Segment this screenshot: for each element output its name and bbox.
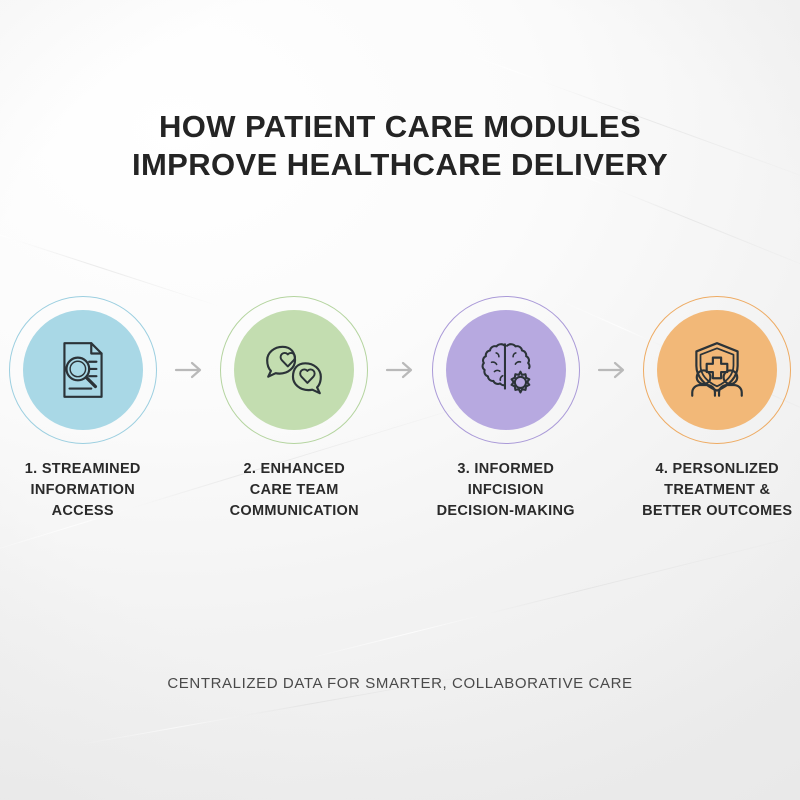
steps-row <box>0 296 800 444</box>
step-2-caption-line-1: 2. ENHANCED <box>214 459 376 480</box>
step-2[interactable] <box>212 296 378 444</box>
step-1[interactable] <box>0 296 166 444</box>
step-3-caption-line-3: DECISION-MAKING <box>425 501 587 522</box>
step-3-caption-line-1: 3. INFORMED <box>425 459 587 480</box>
arrow-2-to-3 <box>377 296 423 444</box>
step-1-caption: 1. STREAMINED INFORMATION ACCESS <box>0 459 166 522</box>
document-search-icon <box>50 337 116 403</box>
step-1-caption-line-3: ACCESS <box>2 501 164 522</box>
step-2-caption-line-2: CARE TEAM <box>214 480 376 501</box>
page-title: HOW PATIENT CARE MODULES IMPROVE HEALTHC… <box>0 108 800 184</box>
step-3-caption-line-2: INFCISION <box>425 480 587 501</box>
captions-row: 1. STREAMINED INFORMATION ACCESS 2. ENHA… <box>0 459 800 522</box>
step-2-caption: 2. ENHANCED CARE TEAM COMMUNICATION <box>212 459 378 522</box>
step-1-caption-line-1: 1. STREAMINED <box>2 459 164 480</box>
footer-tagline: CENTRALIZED DATA FOR SMARTER, COLLABORAT… <box>0 675 800 692</box>
step-4-caption-line-1: 4. PERSONLIZED <box>637 459 799 480</box>
shield-cross-people-icon <box>684 337 750 403</box>
step-3-caption: 3. INFORMED INFCISION DECISION-MAKING <box>423 459 589 522</box>
page-title-line-2: IMPROVE HEALTHCARE DELIVERY <box>0 146 800 184</box>
step-4-caption: 4. PERSONLIZED TREATMENT & BETTER OUTCOM… <box>635 459 800 522</box>
step-4-caption-line-3: BETTER OUTCOMES <box>637 501 799 522</box>
step-3[interactable] <box>423 296 589 444</box>
step-3-badge[interactable] <box>432 296 580 444</box>
arrow-1-to-2 <box>166 296 212 444</box>
arrow-3-to-4 <box>589 296 635 444</box>
brain-gear-icon <box>473 337 539 403</box>
step-4-caption-line-2: TREATMENT & <box>637 480 799 501</box>
page-title-line-1: HOW PATIENT CARE MODULES <box>0 108 800 146</box>
step-4[interactable] <box>635 296 800 444</box>
step-1-badge[interactable] <box>9 296 157 444</box>
step-2-caption-line-3: COMMUNICATION <box>214 501 376 522</box>
step-1-caption-line-2: INFORMATION <box>2 480 164 501</box>
step-4-badge[interactable] <box>643 296 791 444</box>
step-2-badge[interactable] <box>220 296 368 444</box>
infographic-canvas: HOW PATIENT CARE MODULES IMPROVE HEALTHC… <box>0 0 800 800</box>
speech-bubbles-heart-icon <box>261 337 327 403</box>
